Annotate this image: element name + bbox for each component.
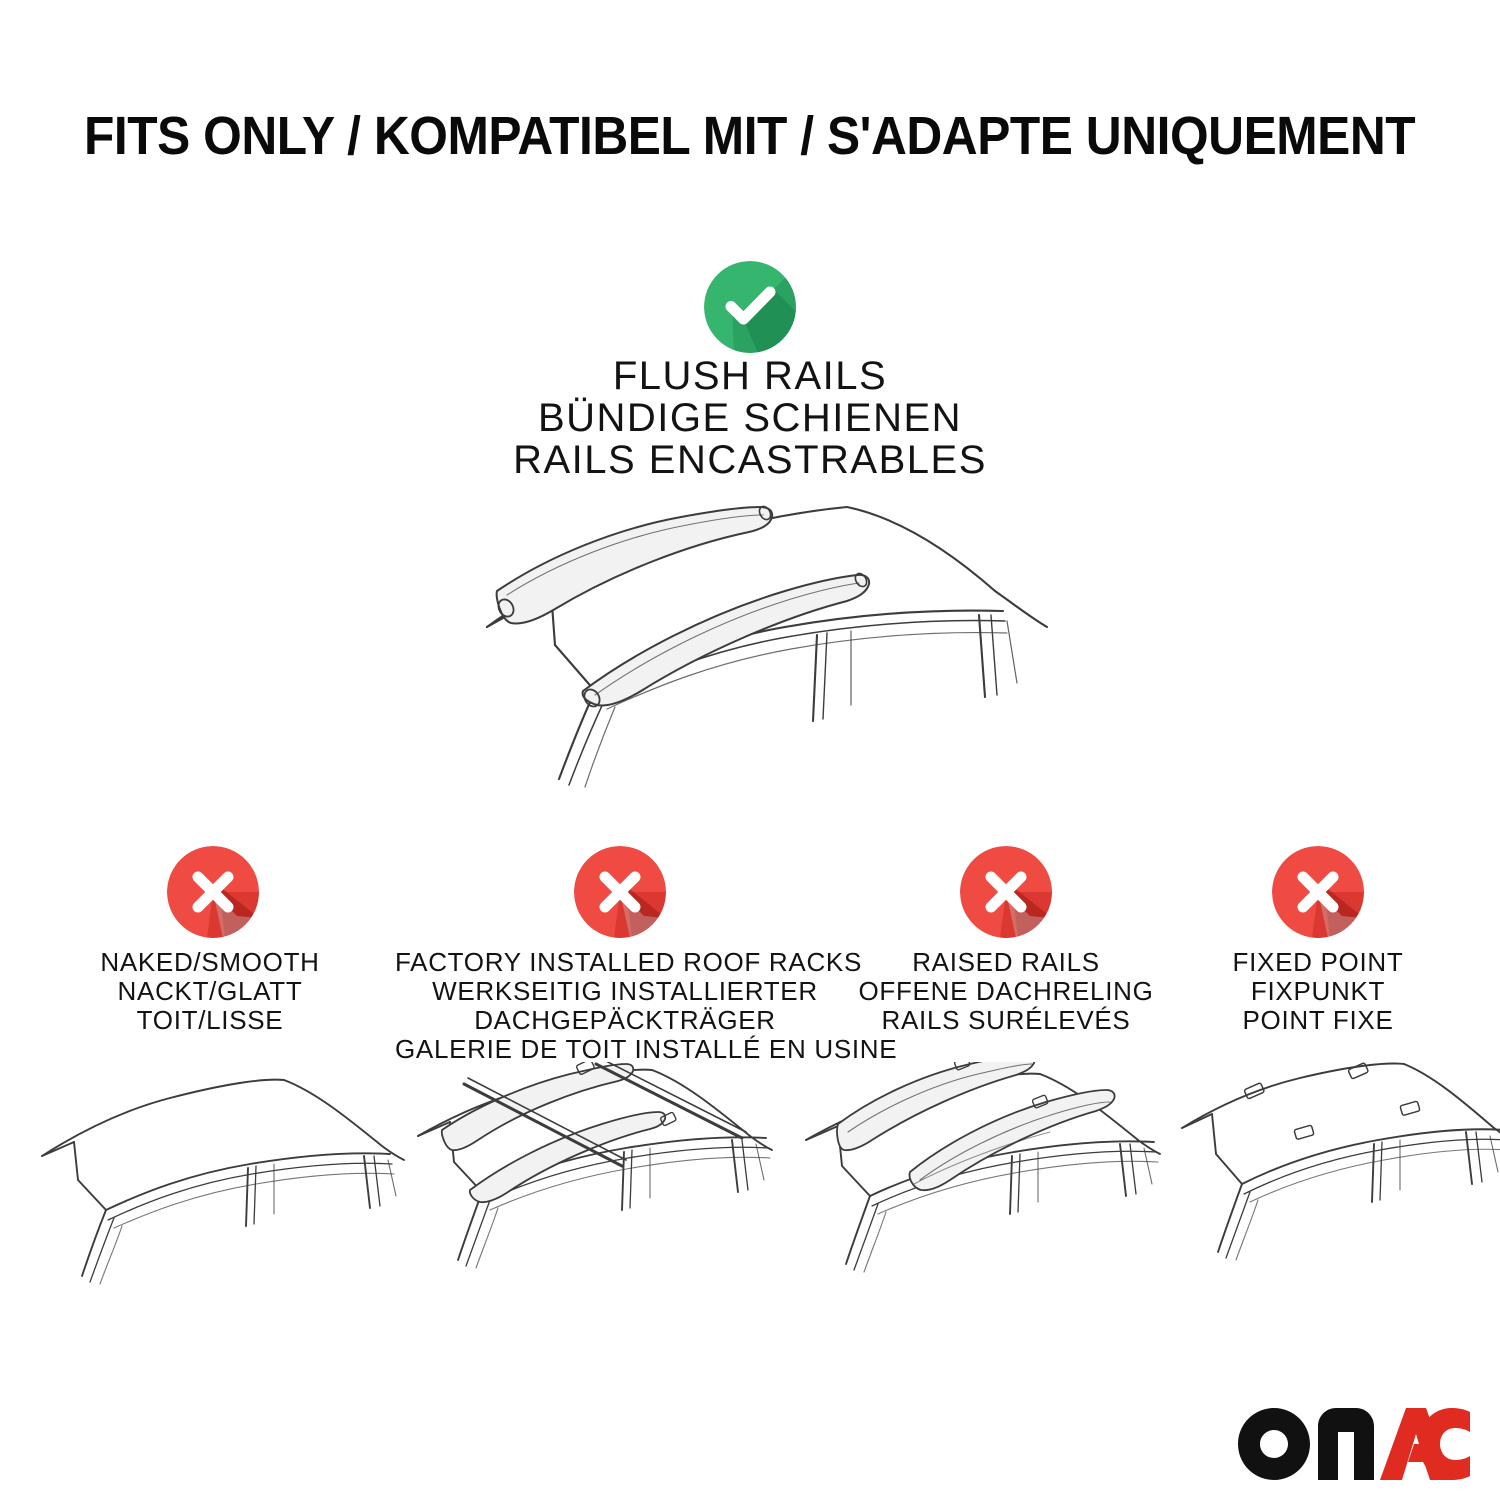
green-check-circle-icon: [704, 261, 796, 353]
label-line-en: FACTORY INSTALLED ROOF RACKS: [395, 948, 855, 977]
omac-logo: [1238, 1408, 1470, 1480]
label-factory-racks: FACTORY INSTALLED ROOF RACKS WERKSEITIG …: [395, 948, 855, 1064]
red-x-circle-icon-fixed-point: [1272, 846, 1364, 938]
label-fixed-point: FIXED POINT FIXPUNKT POINT FIXE: [1148, 948, 1488, 1035]
label-line-fr: TOIT/LISSE: [30, 1006, 390, 1035]
label-line-fr: RAILS SURÉLEVÉS: [830, 1006, 1182, 1035]
infographic-page: FITS ONLY / KOMPATIBEL MIT / S'ADAPTE UN…: [0, 0, 1500, 1500]
label-line-de: FIXPUNKT: [1148, 977, 1488, 1006]
red-x-circle-icon-raised-rails: [960, 846, 1052, 938]
flush-rails-line-de: BÜNDIGE SCHIENEN: [250, 397, 1250, 439]
flush-rails-line-en: FLUSH RAILS: [250, 355, 1250, 397]
label-line-de: OFFENE DACHRELING: [830, 977, 1182, 1006]
car-roof-with-fixed-points-illustration: [1178, 1062, 1500, 1292]
page-title: FITS ONLY / KOMPATIBEL MIT / S'ADAPTE UN…: [84, 108, 1317, 165]
label-line-de-2: DACHGEPÄCKTRÄGER: [395, 1006, 855, 1035]
label-line-fr: POINT FIXE: [1148, 1006, 1488, 1035]
flush-rails-heading: FLUSH RAILS BÜNDIGE SCHIENEN RAILS ENCAS…: [250, 355, 1250, 481]
label-naked-smooth: NAKED/SMOOTH NACKT/GLATT TOIT/LISSE: [30, 948, 390, 1035]
flush-rails-line-fr: RAILS ENCASTRABLES: [250, 439, 1250, 481]
car-roof-with-flush-rails-illustration: [455, 495, 1055, 795]
label-line-de: NACKT/GLATT: [30, 977, 390, 1006]
label-line-en: NAKED/SMOOTH: [30, 948, 390, 977]
label-line-fr: GALERIE DE TOIT INSTALLÉ EN USINE: [395, 1035, 855, 1064]
car-roof-with-factory-crossbars-illustration: [412, 1062, 792, 1292]
red-x-circle-icon-factory-racks: [574, 846, 666, 938]
label-line-en: RAISED RAILS: [830, 948, 1182, 977]
car-roof-with-raised-rails-illustration: [802, 1062, 1172, 1292]
red-x-circle-icon-naked: [167, 846, 259, 938]
label-line-en: FIXED POINT: [1148, 948, 1488, 977]
label-raised-rails: RAISED RAILS OFFENE DACHRELING RAILS SUR…: [830, 948, 1182, 1035]
car-roof-bare-smooth-illustration: [38, 1062, 408, 1292]
label-line-de-1: WERKSEITIG INSTALLIERTER: [395, 977, 855, 1006]
